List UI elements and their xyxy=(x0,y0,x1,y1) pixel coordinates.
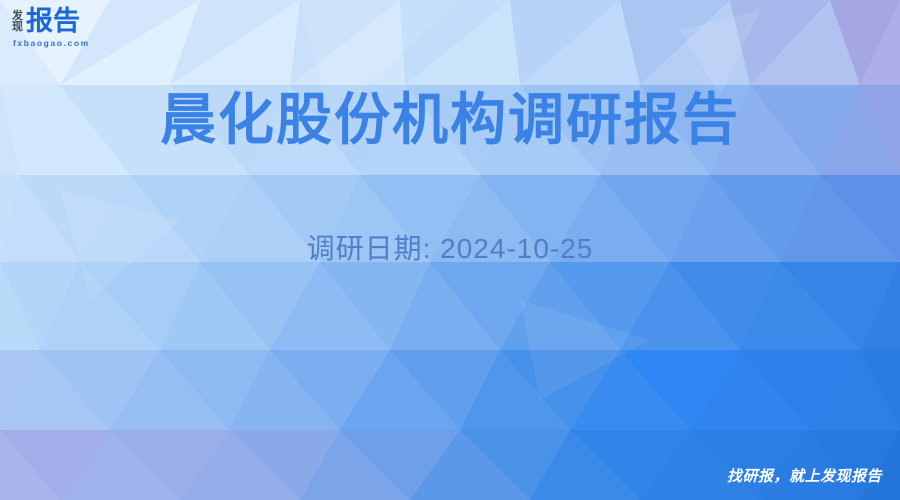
logo-mark-char-2: 现 xyxy=(12,22,23,33)
brand-slogan: 找研报，就上发现报告 xyxy=(727,465,882,486)
logo-mark-fa-xian: 发 现 xyxy=(12,10,23,33)
logo-row: 发 现 报告 xyxy=(12,8,80,35)
report-cover: 发 现 报告 fxbaogao.com 晨化股份机构调研报告 调研日期: 202… xyxy=(0,0,900,500)
logo-url: fxbaogao.com xyxy=(13,38,90,48)
survey-date-subtitle: 调研日期: 2024-10-25 xyxy=(0,232,900,266)
brand-logo[interactable]: 发 现 报告 fxbaogao.com xyxy=(12,8,90,48)
logo-wordmark: 报告 xyxy=(26,8,80,35)
page-title: 晨化股份机构调研报告 xyxy=(0,88,900,153)
